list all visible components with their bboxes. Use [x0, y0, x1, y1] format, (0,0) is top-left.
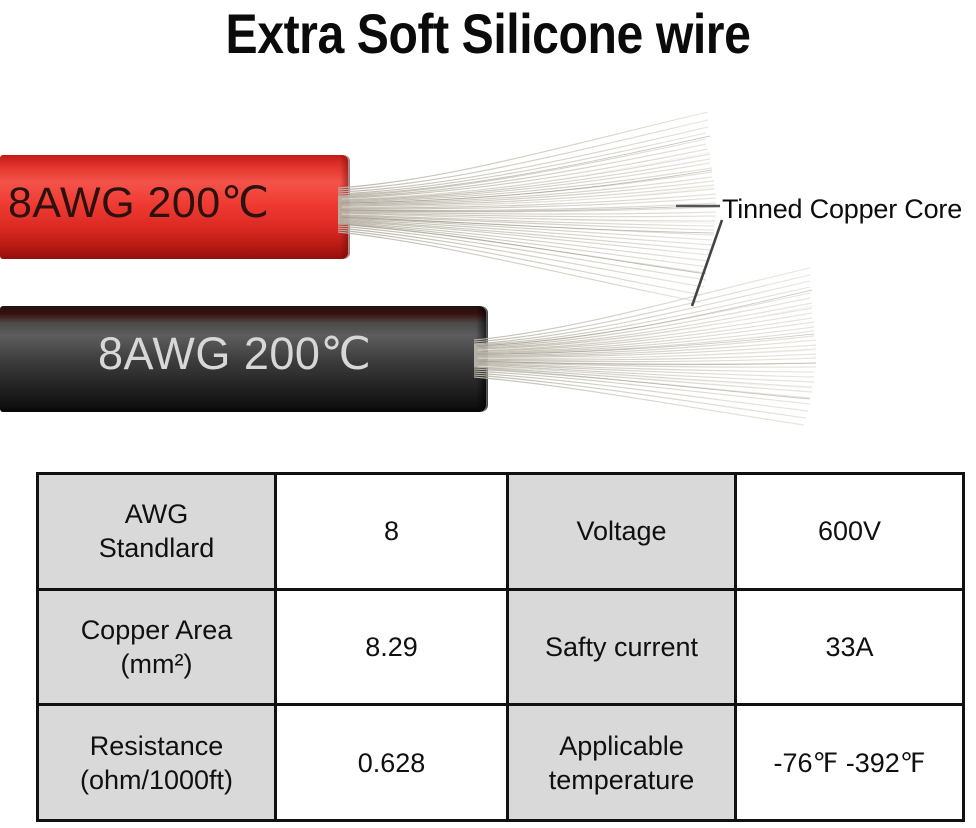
- spec-label-copper-area: Copper Area (mm²): [38, 589, 276, 705]
- spec-label-line1: Applicable: [559, 731, 684, 761]
- spec-label-applicable-temperature: Applicable temperature: [508, 705, 736, 821]
- spec-label-resistance: Resistance (ohm/1000ft): [38, 705, 276, 821]
- table-row: Resistance (ohm/1000ft) 0.628 Applicable…: [38, 705, 964, 821]
- red-wire-group: 8AWG 200℃: [0, 147, 360, 267]
- spec-value-applicable-temperature: -76℉ -392℉: [736, 705, 964, 821]
- black-wire-group: 8AWG 200℃: [0, 300, 500, 418]
- red-wire-print-label: 8AWG 200℃: [8, 177, 270, 229]
- spec-label-line2: Standlard: [99, 533, 215, 563]
- spec-label-line1: AWG: [125, 499, 189, 529]
- product-illustration: 8AWG 200℃: [0, 92, 976, 442]
- spec-label-line2: temperature: [549, 765, 695, 795]
- spec-label-line1: Copper Area: [81, 615, 233, 645]
- table-row: Copper Area (mm²) 8.29 Safty current 33A: [38, 589, 964, 705]
- spec-value-voltage: 600V: [736, 474, 964, 590]
- spec-label-voltage: Voltage: [508, 474, 736, 590]
- page-title: Extra Soft Silicone wire: [68, 2, 907, 66]
- black-wire-print-label: 8AWG 200℃: [98, 327, 371, 381]
- spec-value-safety-current: 33A: [736, 589, 964, 705]
- tinned-copper-core-label: Tinned Copper Core: [722, 193, 962, 225]
- spec-label-line2: (ohm/1000ft): [80, 765, 233, 795]
- spec-value-resistance: 0.628: [276, 705, 508, 821]
- table-row: AWG Standlard 8 Voltage 600V: [38, 474, 964, 590]
- spec-label-line1: Resistance: [90, 731, 224, 761]
- spec-label-line2: (mm²): [121, 649, 193, 679]
- spec-label-safety-current: Safty current: [508, 589, 736, 705]
- spec-value-copper-area: 8.29: [276, 589, 508, 705]
- specification-table: AWG Standlard 8 Voltage 600V Copper Area…: [36, 472, 965, 822]
- spec-label-awg-standard: AWG Standlard: [38, 474, 276, 590]
- spec-value-awg-standard: 8: [276, 474, 508, 590]
